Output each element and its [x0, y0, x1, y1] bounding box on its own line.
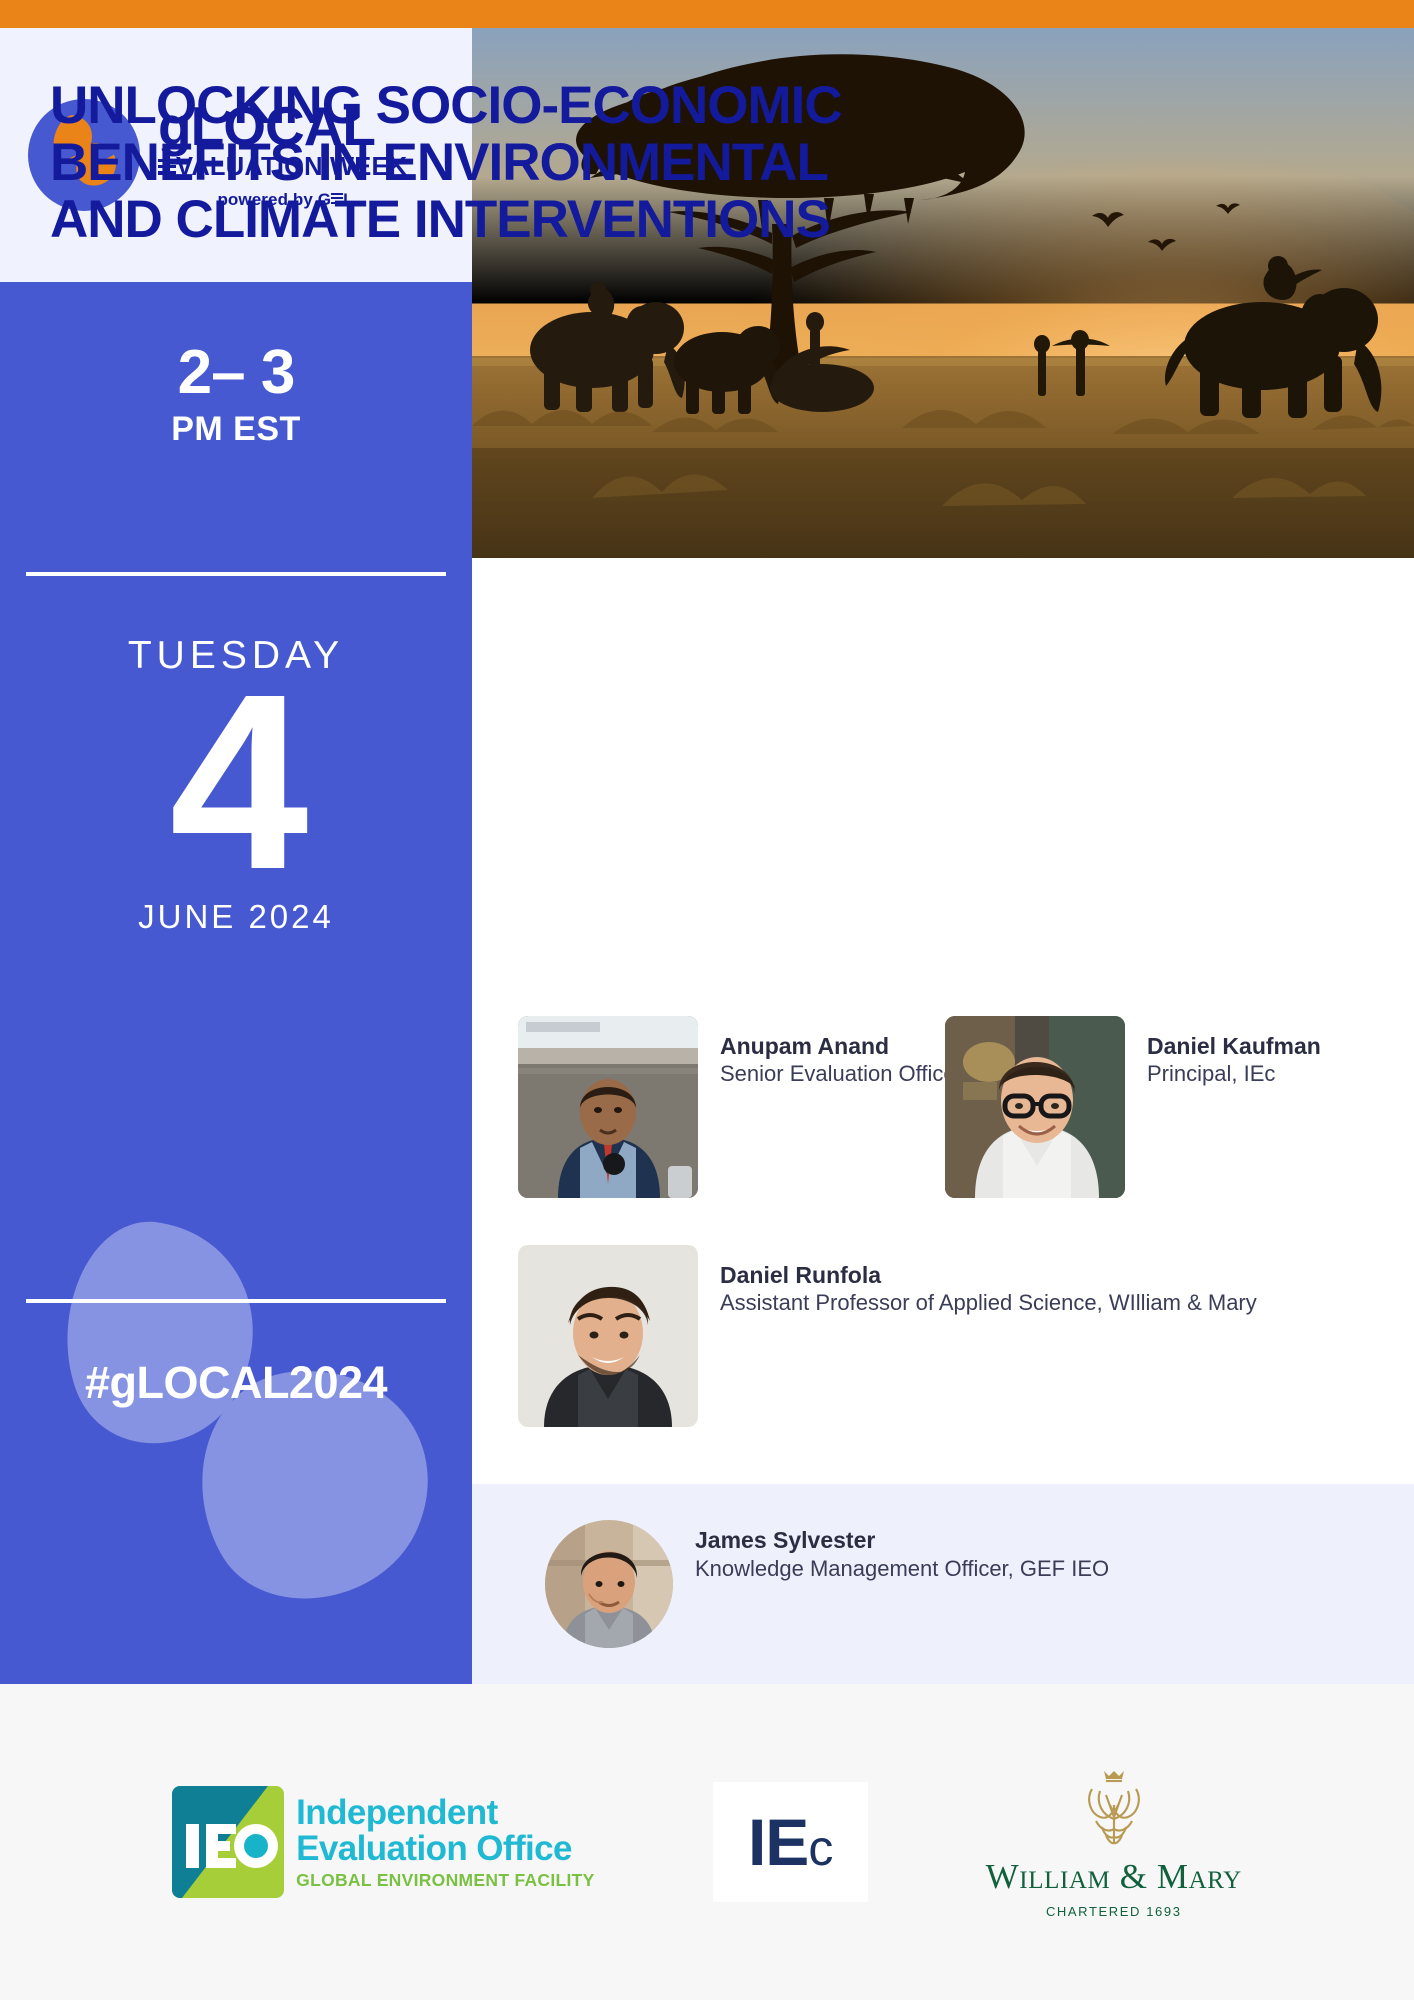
ieo-line-3: GLOBAL ENVIRONMENT FACILITY	[296, 1872, 594, 1890]
footer: Independent Evaluation Office GLOBAL ENV…	[0, 1684, 1414, 2000]
avatar	[518, 1016, 698, 1198]
partner-logos: Independent Evaluation Office GLOBAL ENV…	[0, 1684, 1414, 2000]
iec-ie: IE	[748, 1805, 808, 1879]
speaker-name: Daniel Kaufman	[1147, 1032, 1321, 1061]
time-range: 2– 3	[0, 342, 472, 404]
avatar	[518, 1245, 698, 1427]
page-title: UNLOCKING SOCIO-ECONOMIC BENEFITS IN ENV…	[50, 77, 880, 249]
left-column: gLOCAL VALUATION WEEK powered by GI 2– 3…	[0, 28, 472, 1684]
wm-chartered: CHARTERED 1693	[986, 1904, 1242, 1919]
speaker-role: Assistant Professor of Applied Science, …	[720, 1290, 1257, 1317]
time-zone: PM EST	[0, 410, 472, 449]
william-and-mary-logo: William & Mary CHARTERED 1693	[986, 1765, 1242, 1919]
divider-bottom	[26, 1299, 446, 1303]
iec-wordmark: IEc	[748, 1809, 832, 1875]
ieo-gef-logo: Independent Evaluation Office GLOBAL ENV…	[172, 1786, 594, 1898]
ieo-wordmark: Independent Evaluation Office GLOBAL ENV…	[296, 1795, 594, 1889]
speaker-info: Daniel Runfola Assistant Professor of Ap…	[720, 1245, 1257, 1427]
iec-c: c	[808, 1820, 832, 1876]
time-block: 2– 3 PM EST	[0, 342, 472, 449]
avatar	[945, 1016, 1125, 1198]
ieo-line-1: Independent	[296, 1795, 594, 1831]
speaker-info: Daniel Kaufman Principal, IEc	[1147, 1016, 1321, 1198]
divider-top	[26, 572, 446, 576]
iec-logo: IEc	[713, 1782, 868, 1902]
host-name: James Sylvester	[695, 1526, 1109, 1556]
ieo-mark-icon	[172, 1786, 284, 1898]
host-card: James Sylvester Knowledge Management Off…	[545, 1520, 1109, 1648]
top-accent-bar	[0, 0, 1414, 28]
host-role: Knowledge Management Officer, GEF IEO	[695, 1556, 1109, 1583]
date-block: TUESDAY 4 JUNE 2024	[0, 634, 472, 936]
petal-decoration-icon	[60, 1212, 460, 1632]
speaker-role: Principal, IEc	[1147, 1061, 1321, 1088]
speaker-card: Daniel Runfola Assistant Professor of Ap…	[518, 1245, 1257, 1427]
ieo-line-2: Evaluation Office	[296, 1831, 594, 1867]
month-year-label: JUNE 2024	[0, 898, 472, 936]
wm-name: William & Mary	[986, 1857, 1242, 1897]
speaker-card: Daniel Kaufman Principal, IEc	[945, 1016, 1321, 1198]
event-details-panel: 2– 3 PM EST TUESDAY 4 JUNE 2024 #gLOCAL2…	[0, 282, 472, 1684]
event-hashtag: #gLOCAL2024	[0, 1357, 472, 1409]
avatar	[545, 1520, 673, 1648]
wm-cipher-icon	[986, 1765, 1242, 1851]
day-number: 4	[0, 672, 472, 892]
host-info: James Sylvester Knowledge Management Off…	[695, 1520, 1109, 1648]
speaker-name: Daniel Runfola	[720, 1261, 1257, 1290]
